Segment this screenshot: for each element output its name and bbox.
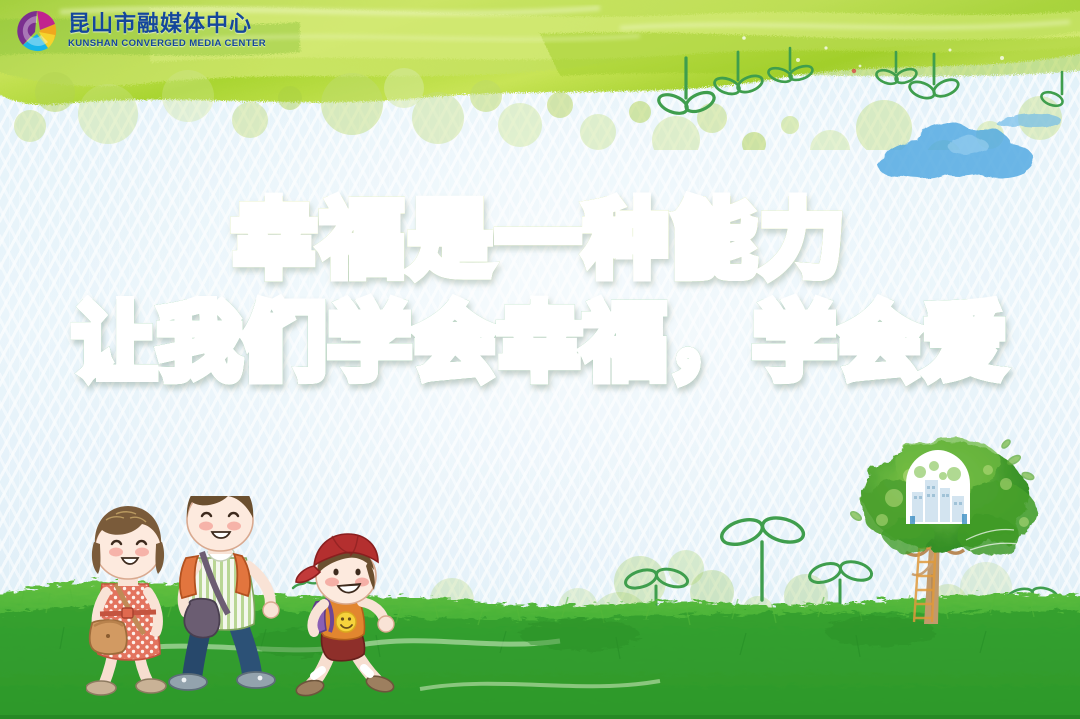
title-block: 幸福是一种能力 让我们学会幸福，学会爱 [0,196,1080,388]
figure-father [169,496,279,690]
watercolor-tree [838,424,1058,672]
figure-mother [86,506,166,695]
logo-mark-icon [14,8,60,54]
poster-canvas: 昆山市融媒体中心 KUNSHAN CONVERGED MEDIA CENTER [0,0,1080,719]
logo-chinese-name: 昆山市融媒体中心 [68,14,266,36]
title-line-2: 让我们学会幸福，学会爱 [0,299,1080,388]
site-logo[interactable]: 昆山市融媒体中心 KUNSHAN CONVERGED MEDIA CENTER [14,8,266,54]
title-line-1: 幸福是一种能力 [0,196,1080,285]
family-illustration [86,496,426,701]
tree-city-cutout [906,450,970,524]
logo-text-block: 昆山市融媒体中心 KUNSHAN CONVERGED MEDIA CENTER [68,14,266,49]
figure-child [295,534,396,698]
logo-english-name: KUNSHAN CONVERGED MEDIA CENTER [68,39,266,49]
